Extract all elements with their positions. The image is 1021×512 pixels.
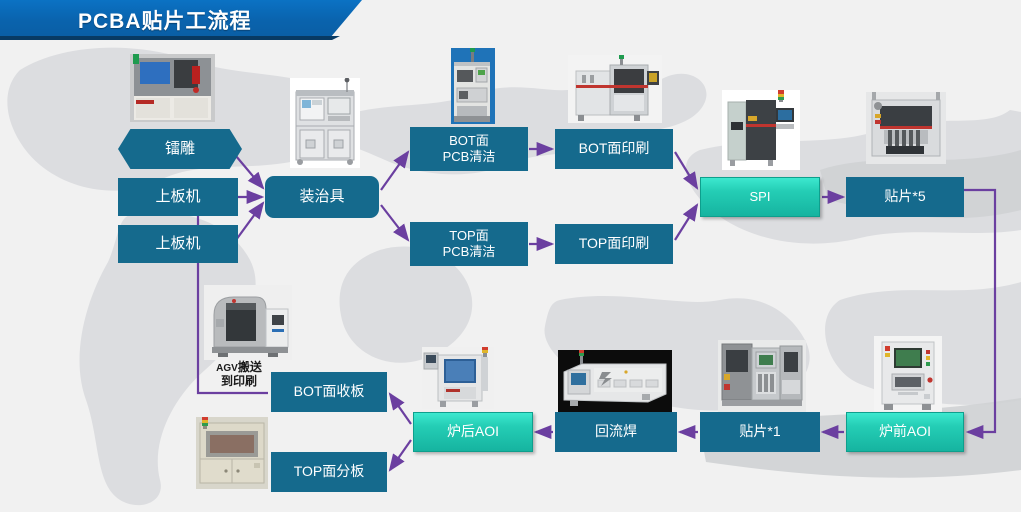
node-label: 炉前AOI (873, 423, 937, 441)
node-post-reflow-aoi[interactable]: 炉后AOI (413, 412, 533, 452)
node-label: TOP面印刷 (573, 235, 656, 253)
node-reflow-soldering[interactable]: 回流焊 (555, 412, 677, 452)
laser-marking-machine-photo (130, 54, 215, 122)
node-label: 炉后AOI (441, 423, 505, 441)
post-reflow-aoi-machine-photo (422, 347, 494, 409)
node-bot-printing[interactable]: BOT面印刷 (555, 129, 673, 169)
node-label: 上板机 (149, 235, 206, 254)
pcb-depaneling-machine-photo (196, 417, 268, 489)
node-label: BOT面收板 (288, 383, 371, 401)
node-label: 上板机 (149, 188, 206, 207)
node-label: TOP面分板 (288, 463, 371, 481)
fixture-assembly-machine-photo (290, 78, 360, 168)
node-board-loader-1[interactable]: 上板机 (118, 178, 238, 216)
smt-pick-place-machine-photo (866, 92, 946, 164)
agv-note-line3: 到印刷 (221, 374, 257, 388)
title-banner-edge (0, 36, 340, 40)
node-label: SPI (744, 189, 777, 205)
node-mount-5[interactable]: 贴片*5 (846, 177, 964, 217)
node-label: 装治具 (293, 188, 350, 207)
node-label: TOP面 PCB清洁 (437, 228, 502, 261)
node-top-printing[interactable]: TOP面印刷 (555, 224, 673, 264)
node-bot-pcb-cleaning[interactable]: BOT面 PCB清洁 (410, 127, 528, 171)
node-pre-reflow-aoi[interactable]: 炉前AOI (846, 412, 964, 452)
pre-reflow-aoi-machine-photo (874, 336, 942, 412)
spi-inspection-machine-photo (722, 90, 800, 170)
node-mount-1[interactable]: 贴片*1 (700, 412, 820, 452)
node-label: 贴片*1 (733, 423, 786, 441)
pcb-cleaning-machine-photo (451, 48, 495, 124)
node-fixture-loading[interactable]: 装治具 (265, 176, 379, 218)
node-board-loader-2[interactable]: 上板机 (118, 225, 238, 263)
node-label: 回流焊 (589, 423, 643, 441)
node-label: 镭雕 (159, 140, 201, 159)
node-label: BOT面印刷 (573, 140, 656, 158)
page-title: PCBA贴片工流程 (78, 5, 252, 35)
agv-transfer-robot-photo (204, 285, 292, 360)
reflow-soldering-oven-photo (558, 350, 672, 412)
flowchart-canvas: PCBA贴片工流程 (0, 0, 1021, 512)
solder-paste-printer-photo (568, 55, 662, 123)
node-label: 贴片*5 (878, 188, 931, 206)
node-spi[interactable]: SPI (700, 177, 820, 217)
node-top-pcb-cleaning[interactable]: TOP面 PCB清洁 (410, 222, 528, 266)
smt-mounter-line-photo (718, 340, 806, 412)
agv-note-line2: 搬送 (238, 360, 262, 374)
node-label: BOT面 PCB清洁 (437, 133, 502, 166)
agv-note-line1: AGV (216, 363, 238, 374)
node-top-depaneling[interactable]: TOP面分板 (271, 452, 387, 492)
agv-transfer-note: AGV搬送 到印刷 (197, 361, 281, 389)
node-laser-marking[interactable]: 镭雕 (118, 129, 242, 169)
node-bot-board-unload[interactable]: BOT面收板 (271, 372, 387, 412)
